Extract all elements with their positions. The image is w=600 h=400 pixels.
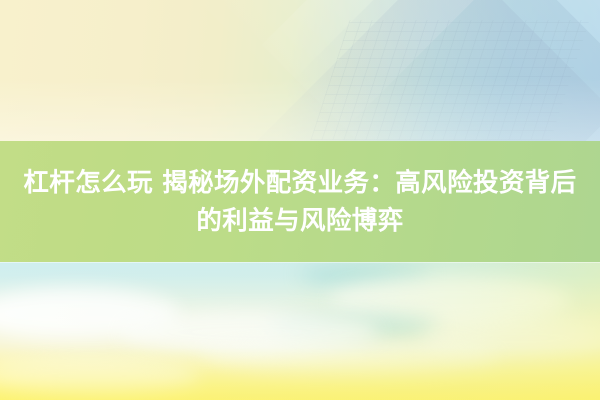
banner-title-line-2: 的利益与风险博弈 (196, 202, 403, 240)
article-banner-image: 杠杆怎么玩 揭秘场外配资业务：高风险投资背后 的利益与风险博弈 (0, 0, 600, 400)
header-haze-overlay (0, 0, 600, 141)
banner-title-line-1: 杠杆怎么玩 揭秘场外配资业务：高风险投资背后 (23, 164, 576, 202)
sky-bottom-wash-overlay (0, 262, 600, 400)
title-band: 杠杆怎么玩 揭秘场外配资业务：高风险投资背后 的利益与风险博弈 (0, 141, 600, 262)
header-gradient-panel (0, 0, 600, 141)
band-seam-divider (0, 262, 600, 263)
sky-gradient-panel (0, 262, 600, 400)
